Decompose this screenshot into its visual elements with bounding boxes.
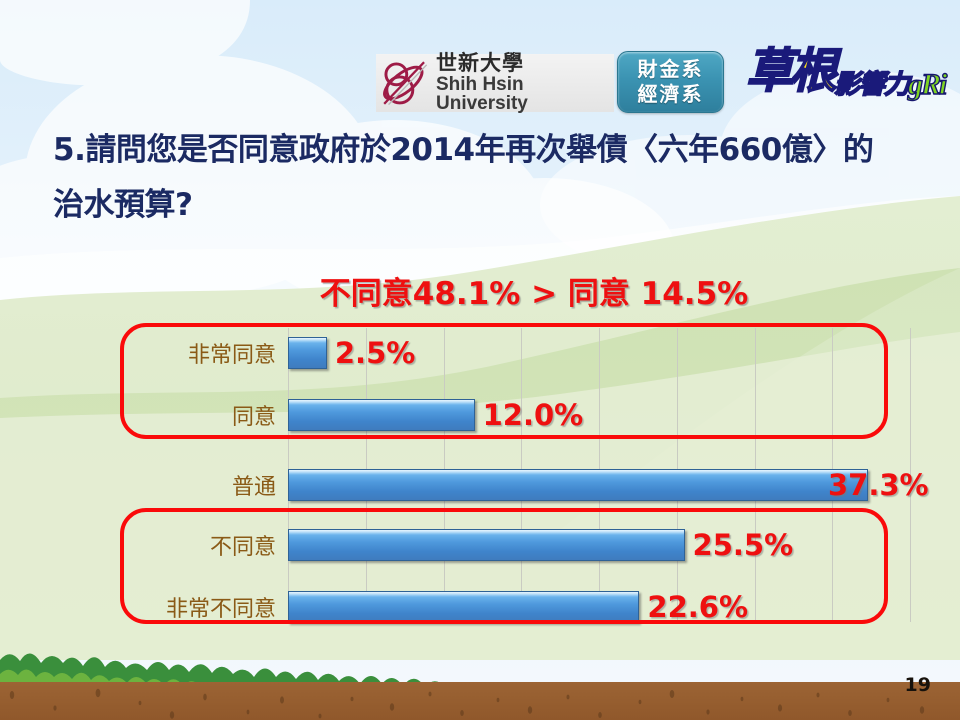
university-name-cn: 世新大學 (436, 53, 614, 74)
grassroot-influence-logo: 草根 影響力 gRi (742, 44, 942, 120)
shih-hsin-university-logo: 世新大學 Shih Hsin University (376, 54, 614, 112)
slide-header: 世新大學 Shih Hsin University 財金系 經濟系 草根 影響力… (0, 22, 960, 102)
chart-bar (288, 469, 868, 501)
question-title: 5.請問您是否同意政府於2014年再次舉債〈六年660億〉的治水預算? (53, 123, 893, 233)
disagree-group-highlight-box (120, 508, 888, 624)
slide-canvas: 世新大學 Shih Hsin University 財金系 經濟系 草根 影響力… (0, 0, 960, 720)
university-name-en: Shih Hsin University (436, 75, 614, 113)
chart-category-label: 普通 (138, 460, 288, 510)
gri-caogen-text: 草根 (746, 48, 834, 95)
department-economics-label: 經濟系 (638, 82, 704, 107)
chart-value-label: 37.3% (828, 462, 929, 508)
gri-yingxiangli-text: 影響力 (834, 72, 909, 98)
department-finance-label: 財金系 (638, 57, 704, 82)
shs-orbit-logo-icon (378, 57, 432, 109)
page-number: 19 (905, 674, 931, 696)
department-badge: 財金系 經濟系 (617, 51, 724, 113)
agree-group-highlight-box (120, 323, 888, 439)
summary-comparison-text: 不同意48.1% > 同意 14.5% (0, 268, 960, 313)
gri-wordmark: gRi (908, 70, 945, 100)
chart-bar-wrapper: 37.3% (288, 460, 910, 510)
chart-row: 普通37.3% (120, 460, 910, 510)
